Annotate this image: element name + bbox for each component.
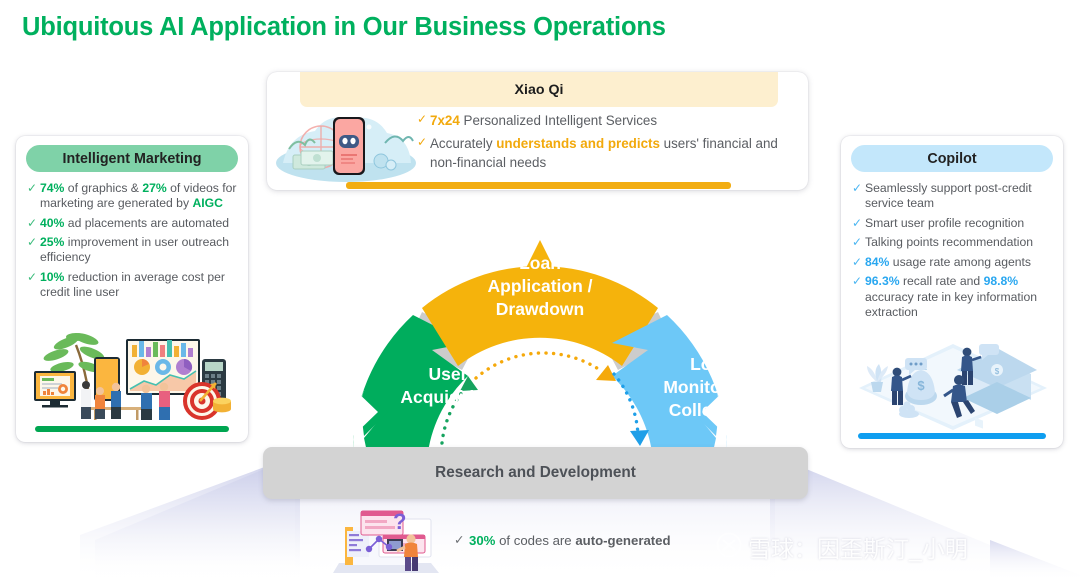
page-title: Ubiquitous AI Application in Our Busines… bbox=[22, 13, 666, 42]
segment-label-line: Monitoring/ bbox=[663, 377, 758, 397]
check-icon: ✓ bbox=[25, 235, 40, 250]
marketing-analytics-illustration bbox=[30, 331, 234, 425]
highlight-7x24: 7x24 bbox=[430, 113, 460, 128]
svg-text:$: $ bbox=[995, 367, 1000, 376]
footer-bold-text: auto-generated bbox=[575, 533, 670, 548]
bullet-text: Seamlessly support post-credit service t… bbox=[865, 181, 1054, 211]
list-item: ✓ Talking points recommendation bbox=[850, 235, 1054, 250]
check-icon: ✓ bbox=[452, 533, 469, 548]
list-item: ✓ 96.3% recall rate and 98.8% accuracy r… bbox=[850, 274, 1054, 319]
highlight-understands-predicts: understands and predicts bbox=[496, 136, 660, 151]
research-development-label: Research and Development bbox=[435, 464, 636, 482]
panel-title: Intelligent Marketing bbox=[62, 151, 201, 167]
xiaoqi-card: Xiao Qi bbox=[267, 72, 808, 190]
chatbot-phone-illustration bbox=[275, 105, 417, 183]
list-item: ✓ Smart user profile recognition bbox=[850, 216, 1054, 231]
watermark-text: 雪球：因歪斯汀_小明 bbox=[748, 530, 968, 564]
list-item: ✓ Seamlessly support post-credit service… bbox=[850, 181, 1054, 211]
research-development-bar: Research and Development bbox=[263, 447, 808, 499]
bullet-text: 96.3% recall rate and 98.8% accuracy rat… bbox=[865, 274, 1054, 319]
bullet-text: 84% usage rate among agents bbox=[865, 255, 1031, 270]
bullet-text: Smart user profile recognition bbox=[865, 216, 1024, 231]
xiaoqi-bullet-2: Accurately understands and predicts user… bbox=[430, 135, 797, 172]
segment-label-line: Acquisition bbox=[400, 387, 495, 407]
xiaoqi-bullet-1: 7x24 Personalized Intelligent Services bbox=[430, 112, 657, 131]
svg-text:$: $ bbox=[917, 378, 925, 393]
list-item: ✓ 74% of graphics & 27% of videos for ma… bbox=[25, 181, 239, 211]
segment-label-line: Loan bbox=[690, 354, 732, 374]
list-item: ✓ 10% reduction in average cost per cred… bbox=[25, 270, 239, 300]
bullet-text: 40% ad placements are automated bbox=[40, 216, 229, 231]
bullet-text: Talking points recommendation bbox=[865, 235, 1033, 250]
check-icon: ✓ bbox=[850, 216, 865, 231]
panel-title: Copilot bbox=[927, 151, 976, 167]
check-icon: ✓ bbox=[25, 181, 40, 196]
list-item: ✓ Accurately understands and predicts us… bbox=[415, 135, 797, 172]
arch-diagram: User Acquisition Loan Application / Draw… bbox=[272, 190, 808, 460]
check-icon: ✓ bbox=[850, 255, 865, 270]
segment-label-line: Drawdown bbox=[496, 299, 584, 319]
coding-screens-illustration: ? bbox=[331, 505, 439, 580]
segment-label-line: Collection bbox=[669, 400, 754, 420]
svg-text:?: ? bbox=[393, 509, 406, 534]
xiaoqi-title: Xiao Qi bbox=[515, 82, 564, 98]
bullet-text: 10% reduction in average cost per credit… bbox=[40, 270, 239, 300]
intelligent-marketing-panel: Intelligent Marketing ✓ 74% of graphics … bbox=[16, 136, 248, 442]
watermark: 雪球：因歪斯汀_小明 bbox=[716, 530, 968, 564]
footer-note: ✓ 30% of codes are auto-generated bbox=[452, 533, 671, 548]
list-item: ✓ 40% ad placements are automated bbox=[25, 216, 239, 231]
copilot-bullet-list: ✓ Seamlessly support post-credit service… bbox=[850, 181, 1054, 320]
check-icon: ✓ bbox=[415, 135, 430, 150]
xiaoqi-header-band: Xiao Qi bbox=[300, 72, 778, 107]
footer-note-text: 30% of codes are auto-generated bbox=[469, 533, 671, 548]
copilot-accent-bar bbox=[858, 433, 1046, 439]
xiaoqi-accent-bar bbox=[346, 182, 731, 189]
banking-isometric-illustration: $ $ bbox=[855, 340, 1051, 430]
segment-label-line: Loan bbox=[519, 253, 561, 273]
bullet-text: 25% improvement in user outreach efficie… bbox=[40, 235, 239, 265]
check-icon: ✓ bbox=[850, 274, 865, 289]
copilot-panel: Copilot ✓ Seamlessly support post-credit… bbox=[841, 136, 1063, 448]
xiaoqi-bullet-list: ✓ 7x24 Personalized Intelligent Services… bbox=[415, 112, 797, 177]
intelligent-marketing-bullet-list: ✓ 74% of graphics & 27% of videos for ma… bbox=[25, 181, 239, 300]
intelligent-marketing-accent-bar bbox=[35, 426, 229, 432]
highlight-30-percent: 30% bbox=[469, 533, 495, 548]
copilot-header: Copilot bbox=[851, 145, 1053, 172]
check-icon: ✓ bbox=[415, 112, 430, 127]
xueqiu-logo-icon bbox=[716, 532, 742, 563]
list-item: ✓ 84% usage rate among agents bbox=[850, 255, 1054, 270]
check-icon: ✓ bbox=[25, 270, 40, 285]
bullet-text: 74% of graphics & 27% of videos for mark… bbox=[40, 181, 239, 211]
list-item: ✓ 7x24 Personalized Intelligent Services bbox=[415, 112, 797, 131]
intelligent-marketing-header: Intelligent Marketing bbox=[26, 145, 238, 172]
segment-label-line: Application / bbox=[488, 276, 593, 296]
list-item: ✓ 25% improvement in user outreach effic… bbox=[25, 235, 239, 265]
check-icon: ✓ bbox=[25, 216, 40, 231]
check-icon: ✓ bbox=[850, 181, 865, 196]
check-icon: ✓ bbox=[850, 235, 865, 250]
label-loan-application: Loan Application / Drawdown bbox=[488, 253, 593, 319]
segment-label-line: User bbox=[429, 364, 468, 384]
